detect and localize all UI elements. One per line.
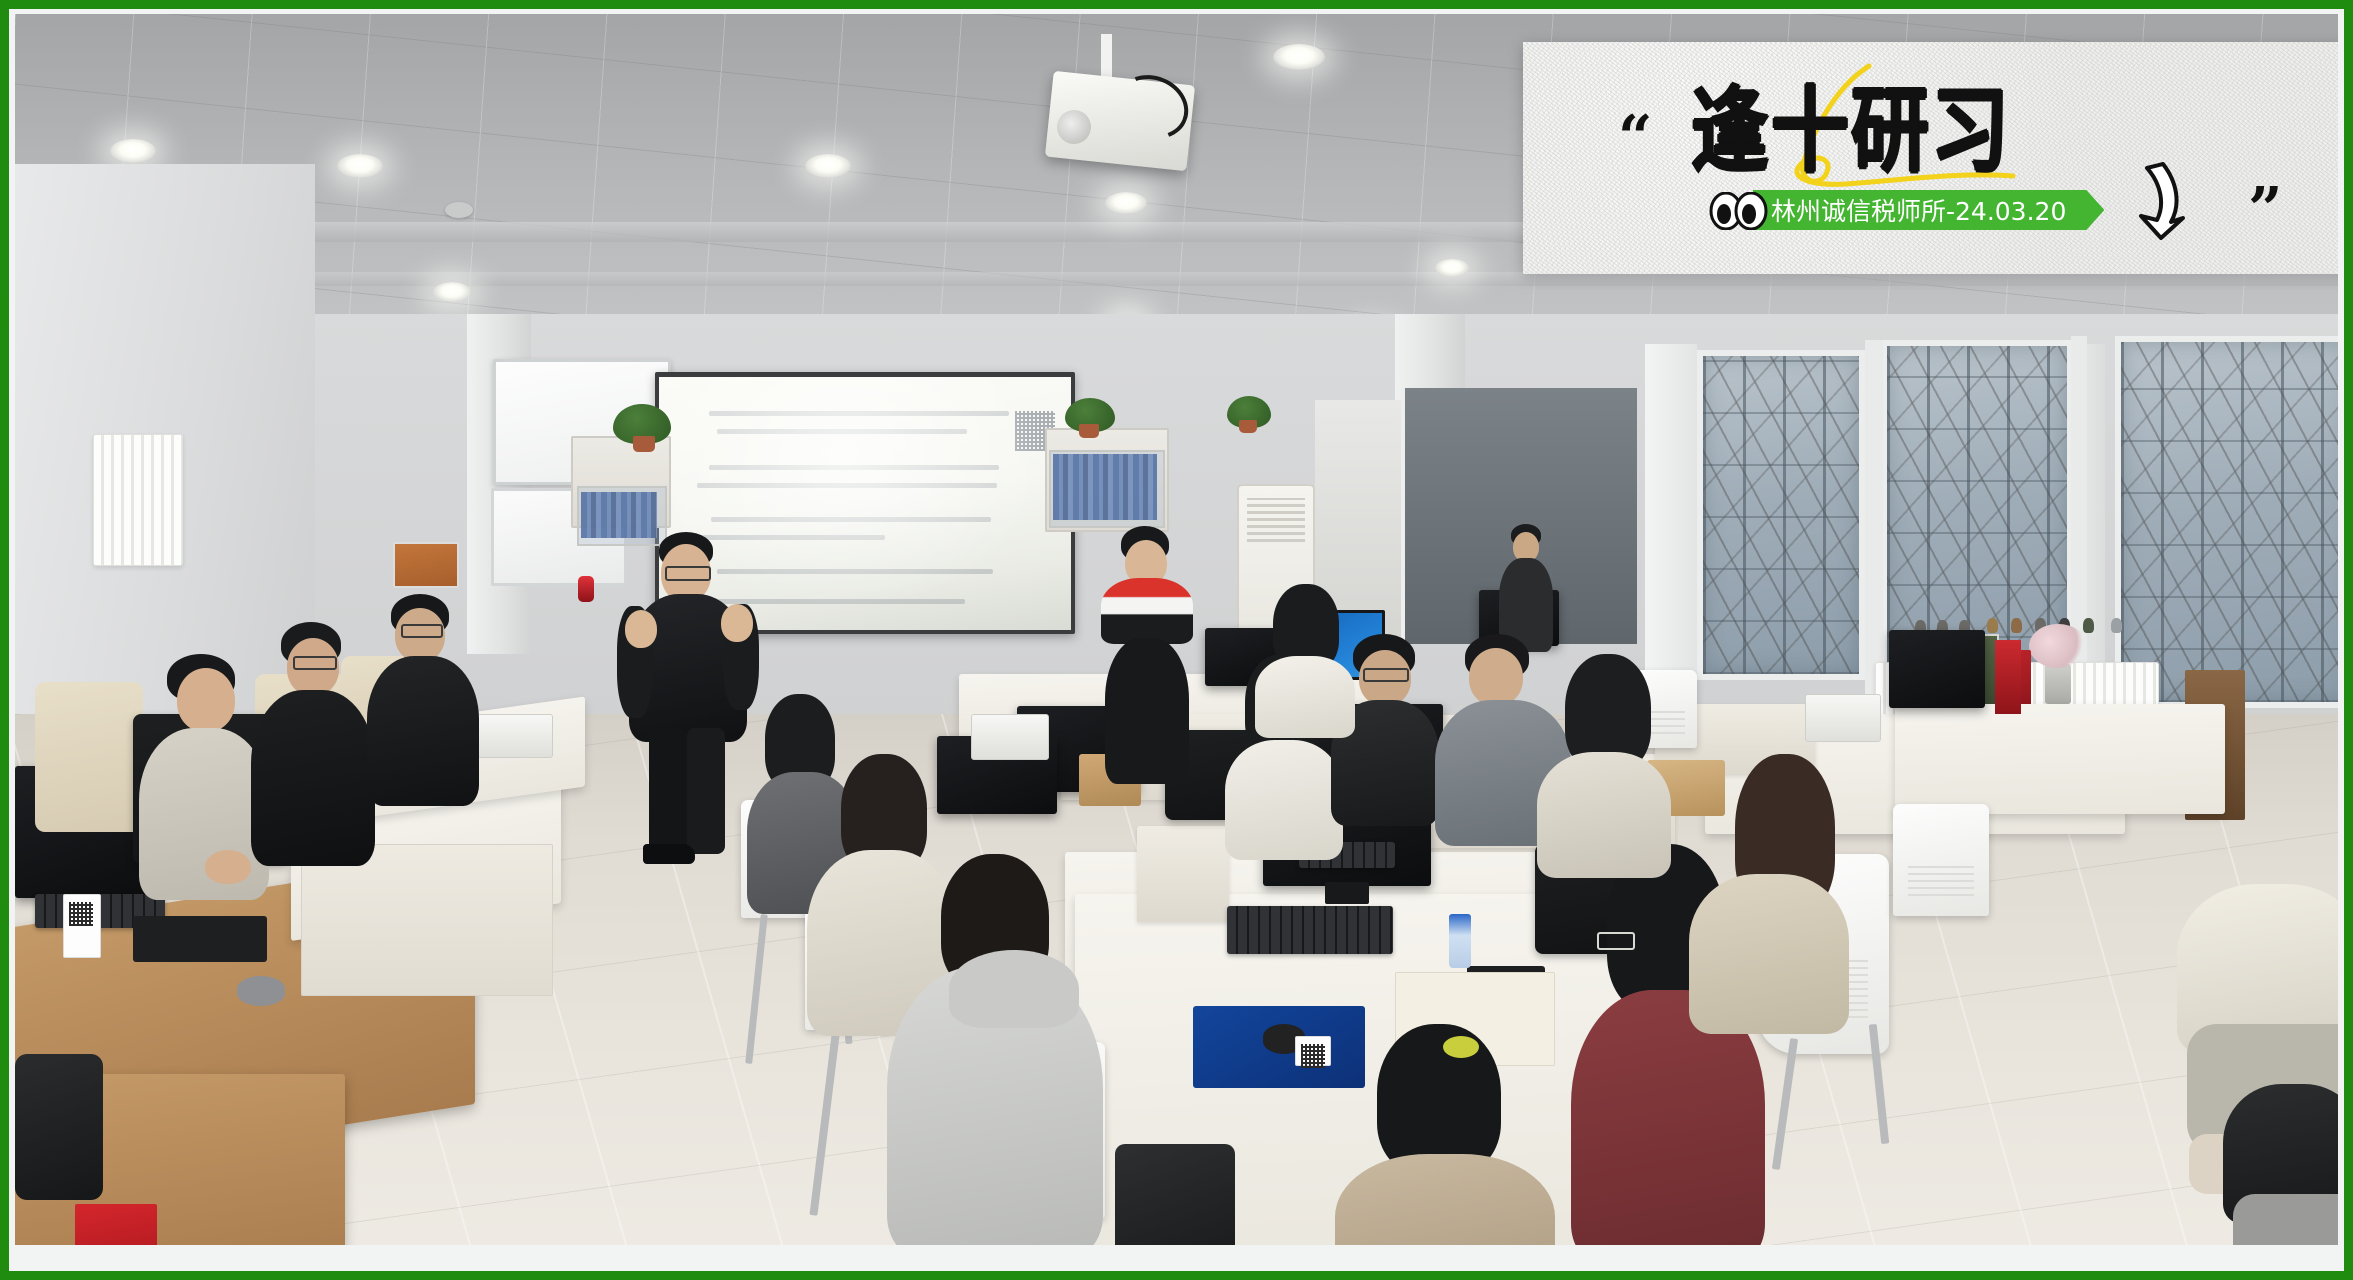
flower-vase-icon xyxy=(2045,664,2071,704)
head xyxy=(177,668,235,732)
desk-partition xyxy=(1137,826,1229,922)
window-icon xyxy=(2115,336,2338,708)
monitor-stand xyxy=(1325,882,1369,904)
workstation-far-right xyxy=(1895,704,2225,814)
card-banner: 林州诚信税师所-24.03.20 xyxy=(1753,190,2104,230)
glasses-icon xyxy=(665,566,711,581)
close-quote-icon: ” xyxy=(2248,192,2280,228)
photograph: “ 逢十研习 林州诚信税师所-24.03.20 ” xyxy=(15,14,2338,1245)
figurine-icon xyxy=(2111,618,2122,633)
white-mat: “ 逢十研习 林州诚信税师所-24.03.20 ” xyxy=(9,9,2344,1271)
desk-phone-icon xyxy=(133,916,267,962)
bag-icon xyxy=(1115,1144,1235,1245)
ceiling-beam-2 xyxy=(15,272,2338,286)
poster-icon xyxy=(75,1204,157,1245)
window-security-bars xyxy=(2121,342,2338,702)
torso xyxy=(1255,656,1355,738)
downlight-icon xyxy=(1105,192,1147,214)
mouse-icon xyxy=(237,976,285,1006)
wall-sign xyxy=(393,542,459,588)
figurine-icon xyxy=(2011,618,2022,633)
red-banner-icon xyxy=(1995,640,2021,714)
qr-card xyxy=(63,894,101,958)
window-icon xyxy=(1697,350,1865,680)
downlight-icon xyxy=(110,139,156,163)
leg-right xyxy=(687,728,725,854)
torso xyxy=(1537,752,1671,878)
attendee-seated xyxy=(1679,754,1859,1034)
shoe xyxy=(643,844,695,864)
curved-down-arrow-icon xyxy=(2127,160,2189,240)
hood xyxy=(949,950,1079,1028)
attendee-seated xyxy=(887,854,1117,1245)
glasses-icon xyxy=(1597,932,1635,950)
plant-pot xyxy=(1079,424,1099,438)
torso xyxy=(139,728,269,900)
plant-pot xyxy=(633,436,655,452)
attendee-seated xyxy=(363,594,503,814)
card-banner-text: 林州诚信税师所-24.03.20 xyxy=(1771,192,2066,228)
attendee-seated xyxy=(1537,654,1687,874)
card-title: 逢十研习 xyxy=(1691,86,2011,178)
plant-pot xyxy=(1239,420,1257,433)
downlight-icon xyxy=(1435,259,1469,277)
ac-vent xyxy=(1247,498,1305,542)
bag-icon xyxy=(15,1054,103,1200)
torso xyxy=(1101,578,1193,644)
printer-icon xyxy=(971,714,1049,760)
printer-icon xyxy=(1805,694,1881,742)
cabinet-glass-door xyxy=(1049,450,1165,528)
hand-left xyxy=(625,610,657,648)
downlight-icon xyxy=(337,154,383,178)
torso xyxy=(251,690,375,866)
hands xyxy=(205,850,251,884)
downlight-icon xyxy=(1273,44,1325,70)
keyboard-icon xyxy=(1227,906,1393,954)
glasses-icon xyxy=(401,624,443,638)
leg xyxy=(2233,1194,2338,1245)
smoke-detector-icon xyxy=(445,202,473,218)
window-mullion xyxy=(1865,340,1883,696)
downlight-icon xyxy=(433,282,471,302)
leg-left xyxy=(649,728,687,854)
wall-pier xyxy=(1645,344,1697,704)
hair-tie xyxy=(1443,1036,1479,1058)
water-bottle-icon xyxy=(1449,914,1471,968)
green-photo-frame: “ 逢十研习 林州诚信税师所-24.03.20 ” xyxy=(0,0,2353,1280)
torso xyxy=(1225,740,1343,860)
radiator-icon xyxy=(93,434,183,566)
attendee-seated xyxy=(1255,584,1365,734)
attendee-seated xyxy=(1315,1024,1565,1245)
downlight-icon xyxy=(805,154,851,178)
flowers-icon xyxy=(2029,624,2087,668)
figurine-icon xyxy=(2083,618,2094,633)
hair xyxy=(1377,1024,1501,1174)
chair-icon xyxy=(35,682,143,832)
chair-icon xyxy=(1893,804,1989,916)
standing-observer xyxy=(1095,526,1205,786)
attendee-seated xyxy=(2223,1084,2338,1245)
glasses-icon xyxy=(293,656,337,670)
alarm-light-icon xyxy=(578,576,594,602)
torso xyxy=(1689,874,1849,1034)
monitor-icon xyxy=(1889,630,1985,708)
glasses-icon xyxy=(1363,668,1409,682)
lower-body xyxy=(1105,638,1189,784)
head xyxy=(1469,648,1523,706)
open-quote-icon: “ xyxy=(1618,120,1650,156)
hand-right xyxy=(721,604,753,642)
torso xyxy=(367,656,479,806)
overlay-title-card: “ 逢十研习 林州诚信税师所-24.03.20 ” xyxy=(1523,42,2338,274)
window-security-bars xyxy=(1703,356,1859,674)
torso xyxy=(1335,1154,1555,1245)
cartoon-eyes-icon xyxy=(1709,192,1769,230)
figurine-icon xyxy=(1987,618,1998,633)
